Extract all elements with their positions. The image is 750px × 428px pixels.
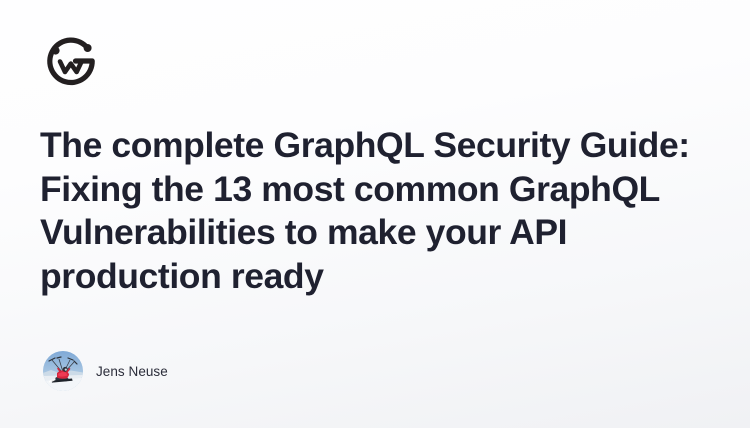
avatar-photo-icon <box>43 351 83 391</box>
author-name: Jens Neuse <box>96 364 168 379</box>
wundergraph-logo[interactable] <box>42 30 100 90</box>
page-title-line-2: Fixing the 13 most common GraphQL <box>40 168 730 212</box>
page-title: The complete GraphQL Security Guide: Fix… <box>40 124 730 298</box>
og-preview-card: The complete GraphQL Security Guide: Fix… <box>0 0 750 428</box>
author-byline: Jens Neuse <box>43 351 168 391</box>
wundergraph-logo-icon <box>42 30 100 90</box>
avatar <box>43 351 83 391</box>
page-title-line-1: The complete GraphQL Security Guide: <box>40 124 730 168</box>
page-title-line-4: production ready <box>40 255 730 299</box>
page-title-line-3: Vulnerabilities to make your API <box>40 211 730 255</box>
